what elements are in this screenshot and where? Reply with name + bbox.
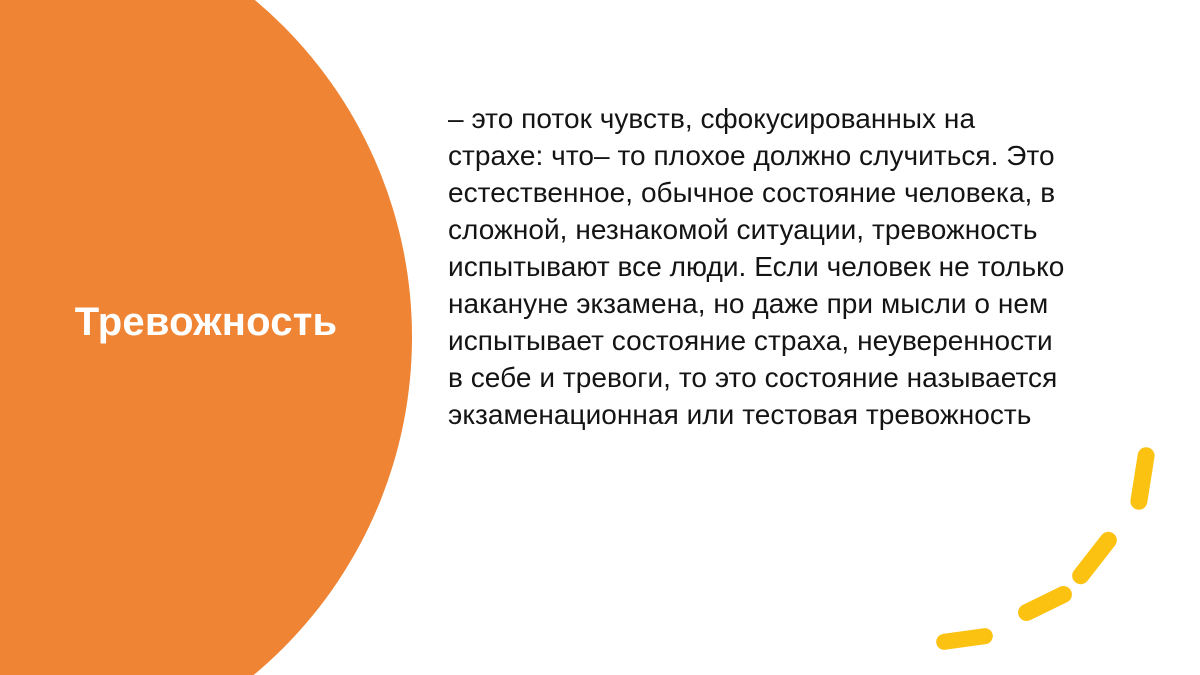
slide-canvas: Тревожность – это поток чувств, сфокусир… (0, 0, 1200, 675)
body-paragraph: – это поток чувств, сфокусированных на с… (448, 100, 1068, 433)
yellow-dash-icon-1 (1129, 446, 1156, 511)
yellow-dash-icon-2 (1069, 528, 1121, 587)
yellow-dash-icon-4 (935, 627, 994, 651)
yellow-dash-icon-3 (1015, 583, 1075, 624)
page-title: Тревожность (0, 298, 412, 346)
